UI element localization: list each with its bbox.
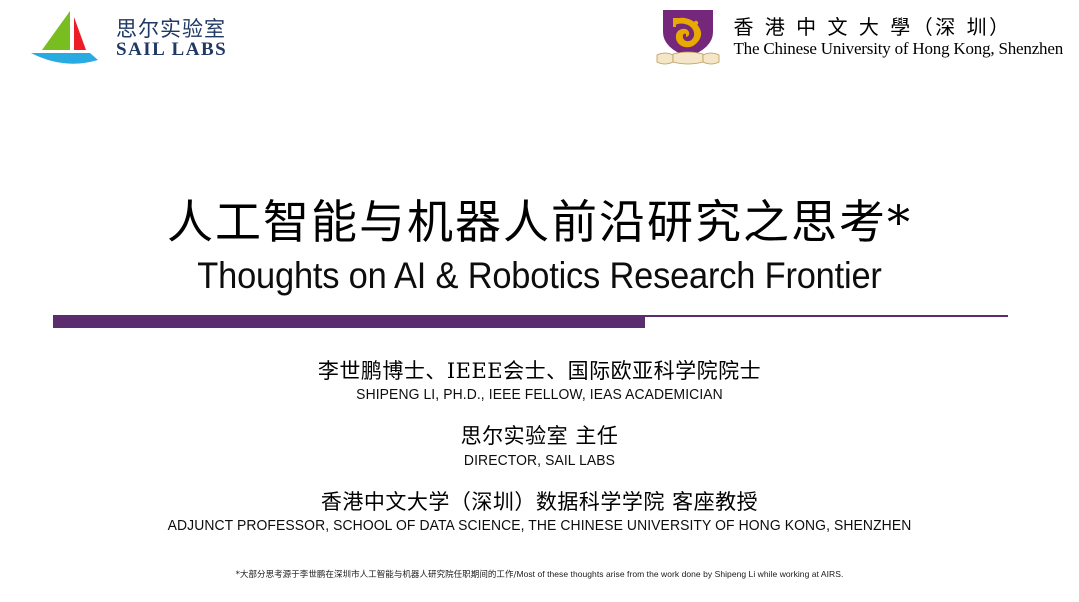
author-role-cuhk: 香港中文大学（深圳）数据科学学院 客座教授 ADJUNCT PROFESSOR,… (0, 489, 1079, 537)
sail-labs-name-cn: 思尔实验室 (116, 18, 227, 40)
cuhk-name-cn: 香 港 中 文 大 學（深 圳） (733, 16, 1063, 39)
author-role-cuhk-en: ADJUNCT PROFESSOR, SCHOOL OF DATA SCIENC… (22, 516, 1058, 537)
author-role-sail-cn: 思尔实验室 主任 (0, 423, 1079, 450)
divider (53, 314, 1008, 328)
sail-labs-logo: 思尔实验室 SAIL LABS (28, 8, 227, 70)
author-role-sail: 思尔实验室 主任 DIRECTOR, SAIL LABS (0, 423, 1079, 471)
author-credentials: 李世鹏博士、IEEE会士、国际欧亚科学院院士 SHIPENG LI, PH.D.… (0, 358, 1079, 406)
sailboat-icon (28, 8, 106, 70)
footnote-en: Most of these thoughts arise from the wo… (516, 569, 843, 579)
author-credentials-en: SHIPENG LI, PH.D., IEEE FELLOW, IEAS ACA… (22, 385, 1058, 406)
cuhk-name-en: The Chinese University of Hong Kong, She… (733, 39, 1063, 59)
author-role-sail-en: DIRECTOR, SAIL LABS (22, 451, 1058, 472)
cuhk-shield-icon (655, 6, 721, 68)
author-info-block: 李世鹏博士、IEEE会士、国际欧亚科学院院士 SHIPENG LI, PH.D.… (0, 358, 1079, 554)
cuhk-wordmark: 香 港 中 文 大 學（深 圳） The Chinese University … (733, 16, 1063, 59)
title-slide: 思尔实验室 SAIL LABS 香 港 中 文 大 學（深 圳） The Chi… (0, 0, 1079, 602)
title-block: 人工智能与机器人前沿研究之思考* Thoughts on AI & Roboti… (0, 196, 1079, 297)
sail-labs-name-en: SAIL LABS (116, 40, 227, 60)
cuhk-logo: 香 港 中 文 大 學（深 圳） The Chinese University … (655, 6, 1063, 68)
footnote: *大部分思考源于李世鹏在深圳市人工智能与机器人研究院任职期间的工作/Most o… (0, 568, 1079, 580)
slide-title-en: Thoughts on AI & Robotics Research Front… (38, 255, 1041, 298)
author-role-cuhk-cn: 香港中文大学（深圳）数据科学学院 客座教授 (0, 489, 1079, 516)
divider-accent-bar (53, 315, 645, 328)
sail-labs-wordmark: 思尔实验室 SAIL LABS (116, 18, 227, 60)
author-credentials-cn: 李世鹏博士、IEEE会士、国际欧亚科学院院士 (0, 358, 1079, 385)
footnote-cn: *大部分思考源于李世鹏在深圳市人工智能与机器人研究院任职期间的工作/ (236, 570, 517, 580)
slide-title-cn: 人工智能与机器人前沿研究之思考* (0, 196, 1079, 249)
